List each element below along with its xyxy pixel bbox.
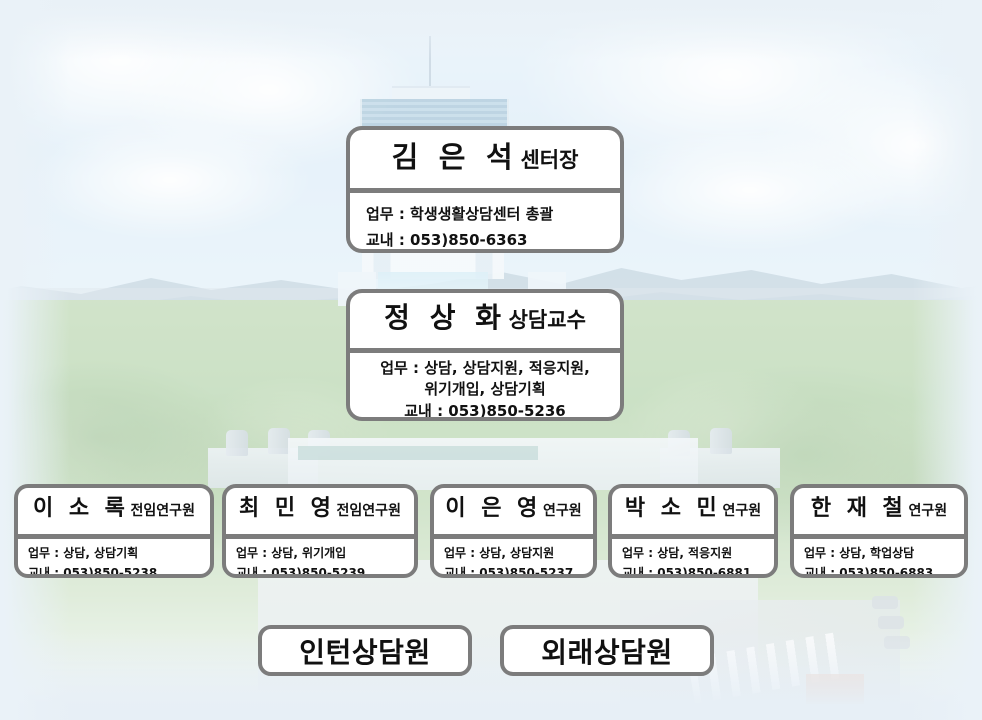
org-card-center-director[interactable]: 김 은 석 센터장 업무 : 학생생활상담센터 총괄 교내 : 053)850-… <box>346 126 624 253</box>
person-name: 한 재 철 <box>811 490 907 522</box>
extension-line: 교내 : 053)850-5237 <box>444 563 593 578</box>
card-header: 한 재 철 연구원 <box>794 488 964 534</box>
card-header: 최 민 영 전임연구원 <box>226 488 414 534</box>
group-name: 외래상담원 <box>541 631 673 671</box>
card-header: 이 은 영 연구원 <box>434 488 593 534</box>
duty-line: 업무 : 상담, 상담지원 <box>444 543 593 563</box>
person-role: 전임연구원 <box>131 500 195 520</box>
group-name: 인턴상담원 <box>299 631 431 671</box>
card-body: 업무 : 상담, 적응지원 교내 : 053)850-6881 <box>612 539 774 578</box>
extension-line: 교내 : 053)850-5239 <box>236 563 414 578</box>
org-chart-page: 김 은 석 센터장 업무 : 학생생활상담센터 총괄 교내 : 053)850-… <box>0 0 982 720</box>
duty-line-2: 위기개입, 상담기획 <box>350 379 620 400</box>
org-card-counseling-professor[interactable]: 정 상 화 상담교수 업무 : 상담, 상담지원, 적응지원, 위기개입, 상담… <box>346 289 624 421</box>
org-card-staff-choi-minyoung[interactable]: 최 민 영 전임연구원 업무 : 상담, 위기개입 교내 : 053)850-5… <box>222 484 418 578</box>
person-role: 전임연구원 <box>337 500 401 520</box>
person-role: 연구원 <box>722 500 761 520</box>
person-name: 최 민 영 <box>239 490 335 522</box>
card-body: 업무 : 상담, 학업상담 교내 : 053)850-6883 <box>794 539 964 578</box>
person-name: 박 소 민 <box>625 490 721 522</box>
card-header: 박 소 민 연구원 <box>612 488 774 534</box>
card-header: 이 소 록 전임연구원 <box>18 488 210 534</box>
org-card-external-counselor[interactable]: 외래상담원 <box>500 625 714 676</box>
extension-line: 교내 : 053)850-6363 <box>366 227 620 253</box>
duty-line: 업무 : 상담, 상담기획 <box>28 543 210 563</box>
card-header: 김 은 석 센터장 <box>350 130 620 188</box>
duty-line: 업무 : 상담, 위기개입 <box>236 543 414 563</box>
person-role: 상담교수 <box>509 304 586 334</box>
extension-line: 교내 : 053)850-5236 <box>350 401 620 421</box>
duty-line: 업무 : 학생생활상담센터 총괄 <box>366 201 620 227</box>
card-body: 업무 : 상담, 상담지원 교내 : 053)850-5237 <box>434 539 593 578</box>
card-header: 정 상 화 상담교수 <box>350 293 620 348</box>
extension-line: 교내 : 053)850-5238 <box>28 563 210 578</box>
person-name: 이 은 영 <box>445 490 541 522</box>
card-body: 업무 : 상담, 위기개입 교내 : 053)850-5239 <box>226 539 414 578</box>
org-card-staff-lee-sorok[interactable]: 이 소 록 전임연구원 업무 : 상담, 상담기획 교내 : 053)850-5… <box>14 484 214 578</box>
org-card-intern-counselor[interactable]: 인턴상담원 <box>258 625 472 676</box>
card-body: 업무 : 학생생활상담센터 총괄 교내 : 053)850-6363 <box>350 193 620 253</box>
person-role: 연구원 <box>543 500 582 520</box>
duty-line: 업무 : 상담, 적응지원 <box>622 543 774 563</box>
card-body: 업무 : 상담, 상담지원, 적응지원, 위기개입, 상담기획 교내 : 053… <box>350 353 620 421</box>
org-card-staff-park-somin[interactable]: 박 소 민 연구원 업무 : 상담, 적응지원 교내 : 053)850-688… <box>608 484 778 578</box>
org-card-staff-han-jaecheol[interactable]: 한 재 철 연구원 업무 : 상담, 학업상담 교내 : 053)850-688… <box>790 484 968 578</box>
person-name: 이 소 록 <box>33 490 129 522</box>
extension-line: 교내 : 053)850-6883 <box>804 563 964 578</box>
duty-line-1: 업무 : 상담, 상담지원, 적응지원, <box>350 358 620 379</box>
person-name: 김 은 석 <box>392 134 518 176</box>
person-name: 정 상 화 <box>384 296 506 336</box>
person-role: 센터장 <box>520 144 578 174</box>
person-role: 연구원 <box>908 500 947 520</box>
org-card-staff-lee-eunyoung[interactable]: 이 은 영 연구원 업무 : 상담, 상담지원 교내 : 053)850-523… <box>430 484 597 578</box>
duty-line: 업무 : 상담, 학업상담 <box>804 543 964 563</box>
extension-line: 교내 : 053)850-6881 <box>622 563 774 578</box>
card-body: 업무 : 상담, 상담기획 교내 : 053)850-5238 <box>18 539 210 578</box>
